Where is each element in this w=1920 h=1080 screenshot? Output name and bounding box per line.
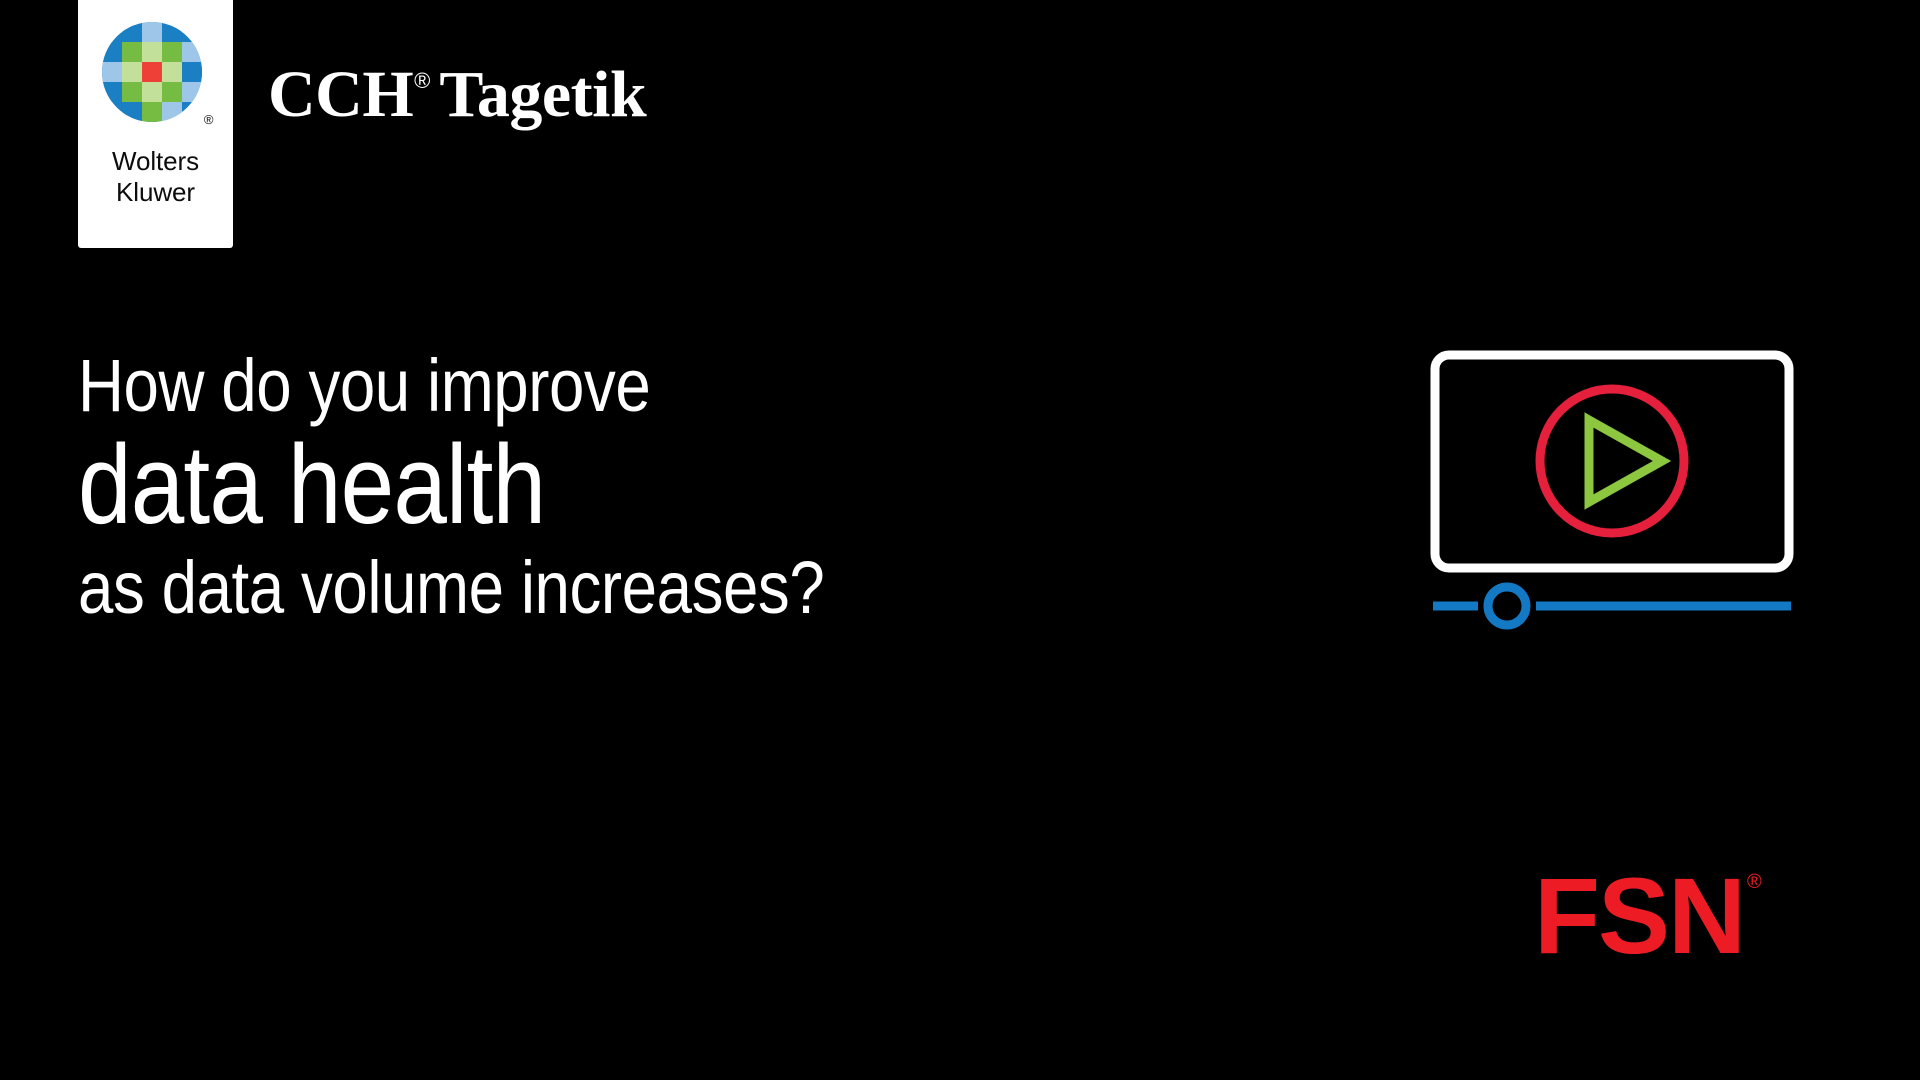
- wolters-kluwer-wordmark: Wolters Kluwer: [112, 146, 199, 207]
- headline-line-1: How do you improve: [78, 348, 938, 423]
- scrubber-handle-icon: [1488, 587, 1526, 625]
- wolters-kluwer-grid-circle-icon: ®: [102, 22, 210, 130]
- slide-canvas: ® Wolters Kluwer CCH ® Tagetik How do yo…: [0, 0, 1920, 1080]
- wolters-kluwer-wordmark-line1: Wolters: [112, 146, 199, 177]
- cch-tagetik-brand-lockup: CCH ® Tagetik: [268, 62, 646, 128]
- headline-block: How do you improve data health as data v…: [78, 348, 1078, 626]
- video-player-icon[interactable]: [1428, 348, 1796, 638]
- fsn-logo: FSN ®: [1534, 866, 1762, 965]
- wolters-kluwer-wordmark-line2: Kluwer: [112, 177, 199, 208]
- brand-registered-mark: ®: [414, 70, 430, 92]
- brand-tagetik-text: Tagetik: [439, 62, 646, 128]
- headline-line-3: as data volume increases?: [78, 550, 938, 625]
- wolters-kluwer-logo-card: ® Wolters Kluwer: [78, 0, 233, 248]
- wolters-kluwer-registered-mark: ®: [204, 113, 214, 126]
- fsn-wordmark: FSN: [1534, 866, 1744, 965]
- brand-cch-text: CCH: [268, 62, 413, 128]
- fsn-registered-mark: ®: [1747, 872, 1762, 892]
- headline-line-2-emphasis: data health: [78, 425, 938, 546]
